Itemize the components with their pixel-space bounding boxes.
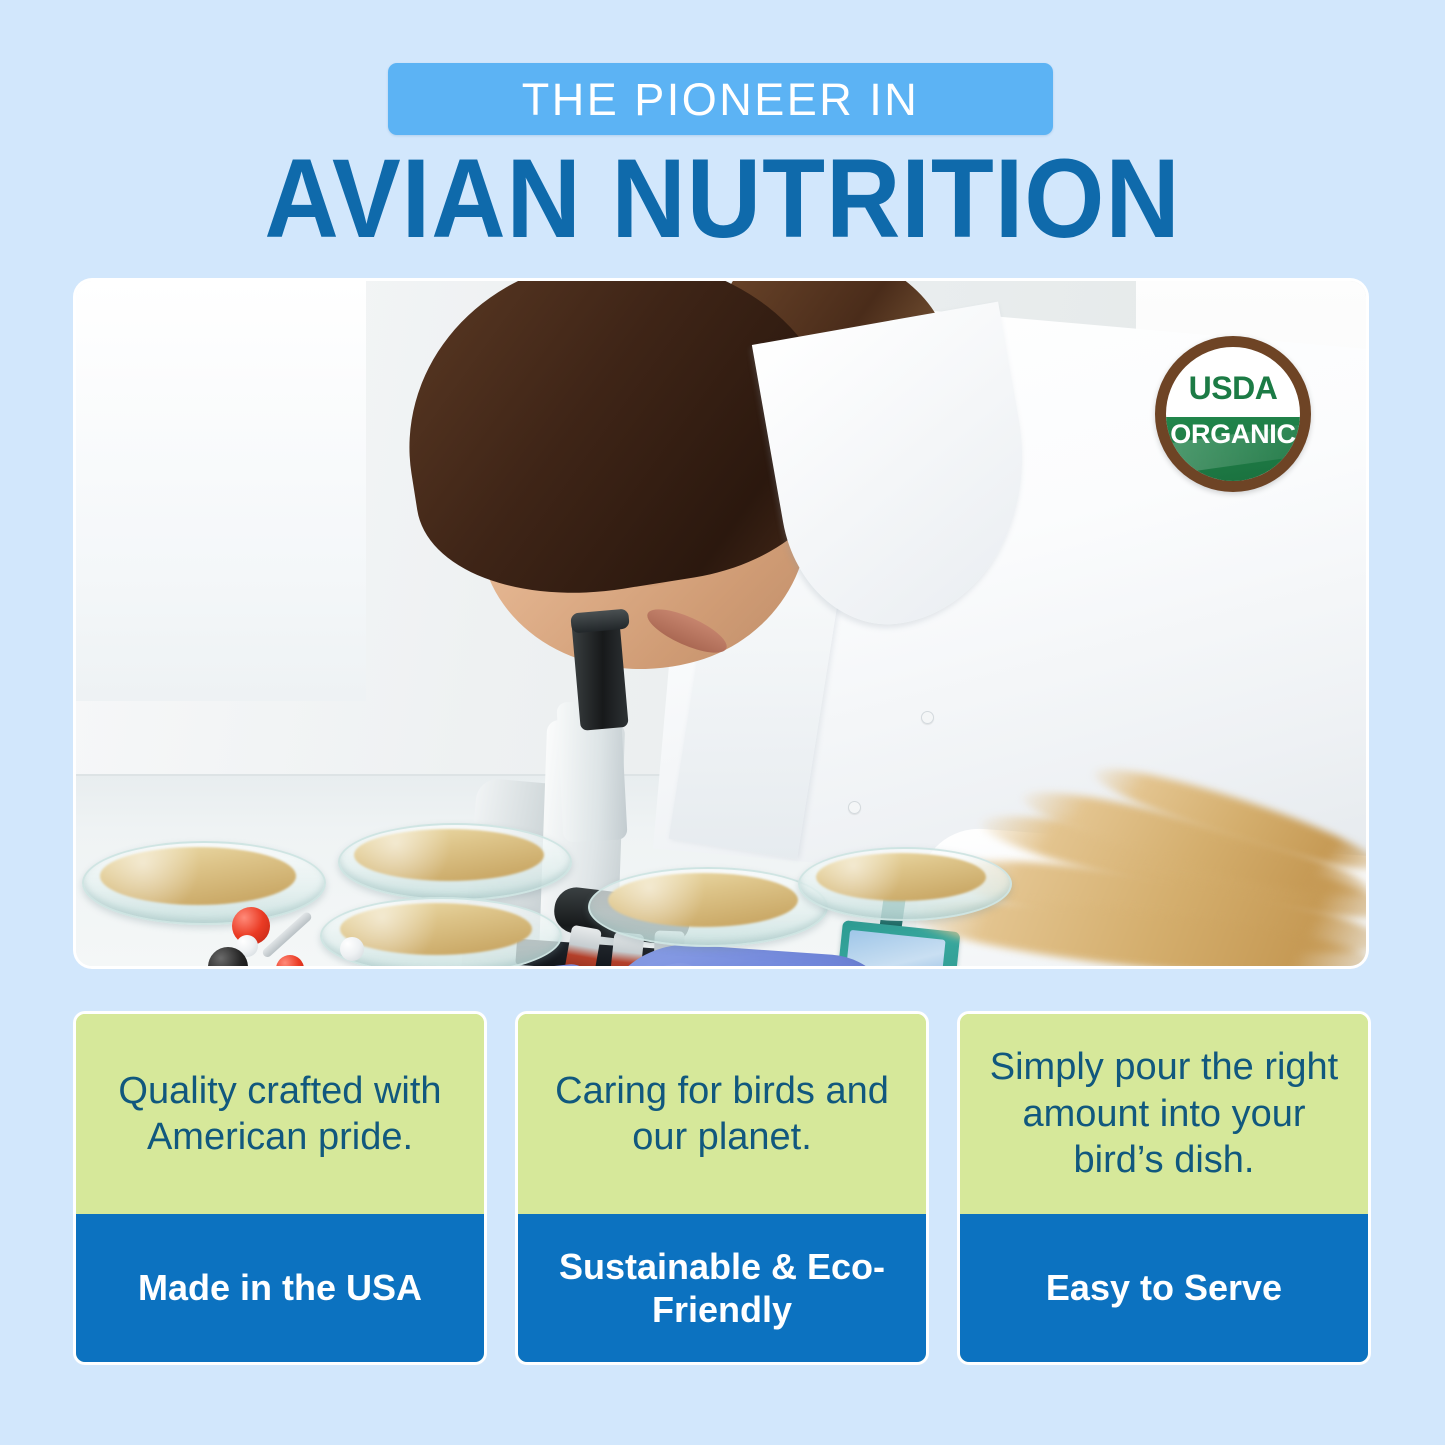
feature-card-label-panel: Sustainable & Eco-Friendly [518, 1214, 926, 1362]
feature-card-description: Quality crafted with American pride. [94, 1068, 466, 1161]
feature-card-made-in-usa: Quality crafted with American pride. Mad… [76, 1014, 484, 1362]
feature-card-label: Easy to Serve [1046, 1266, 1282, 1309]
usda-organic-badge: USDA ORGANIC [1155, 336, 1311, 492]
feature-card-label-panel: Easy to Serve [960, 1214, 1368, 1362]
id-badge-photo [844, 930, 945, 966]
lab-coat-button [848, 801, 861, 814]
feature-card-easy-to-serve: Simply pour the right amount into your b… [960, 1014, 1368, 1362]
feature-card-label: Sustainable & Eco-Friendly [532, 1245, 912, 1331]
eyebrow-text: THE PIONEER IN [522, 77, 920, 122]
feature-card-description: Simply pour the right amount into your b… [978, 1044, 1350, 1183]
molecular-model [146, 881, 486, 966]
eyebrow-banner: THE PIONEER IN [388, 63, 1053, 135]
lab-window-left [76, 281, 366, 701]
feature-card-description-panel: Caring for birds and our planet. [518, 1014, 926, 1214]
page-header: THE PIONEER IN AVIAN NUTRITION [0, 0, 1445, 270]
feature-card-description-panel: Simply pour the right amount into your b… [960, 1014, 1368, 1214]
grain-sample [816, 853, 986, 901]
microscope-eyepiece [571, 617, 628, 731]
grain-sample [608, 873, 798, 927]
molecule-atom-hydrogen [340, 937, 364, 961]
feature-card-label-panel: Made in the USA [76, 1214, 484, 1362]
feature-cards: Quality crafted with American pride. Mad… [76, 1014, 1368, 1362]
molecule-bond [261, 911, 313, 959]
feature-card-description-panel: Quality crafted with American pride. [76, 1014, 484, 1214]
feature-card-label: Made in the USA [138, 1266, 422, 1309]
feature-card-description: Caring for birds and our planet. [536, 1068, 908, 1161]
feature-card-sustainable: Caring for birds and our planet. Sustain… [518, 1014, 926, 1362]
lab-coat-button [921, 711, 934, 724]
molecule-atom-oxygen [276, 955, 304, 966]
usda-badge-bottom-text: ORGANIC [1166, 421, 1300, 448]
grain-sample [354, 829, 544, 881]
usda-badge-top-text: USDA [1166, 372, 1300, 404]
page-title: AVIAN NUTRITION [58, 140, 1387, 258]
